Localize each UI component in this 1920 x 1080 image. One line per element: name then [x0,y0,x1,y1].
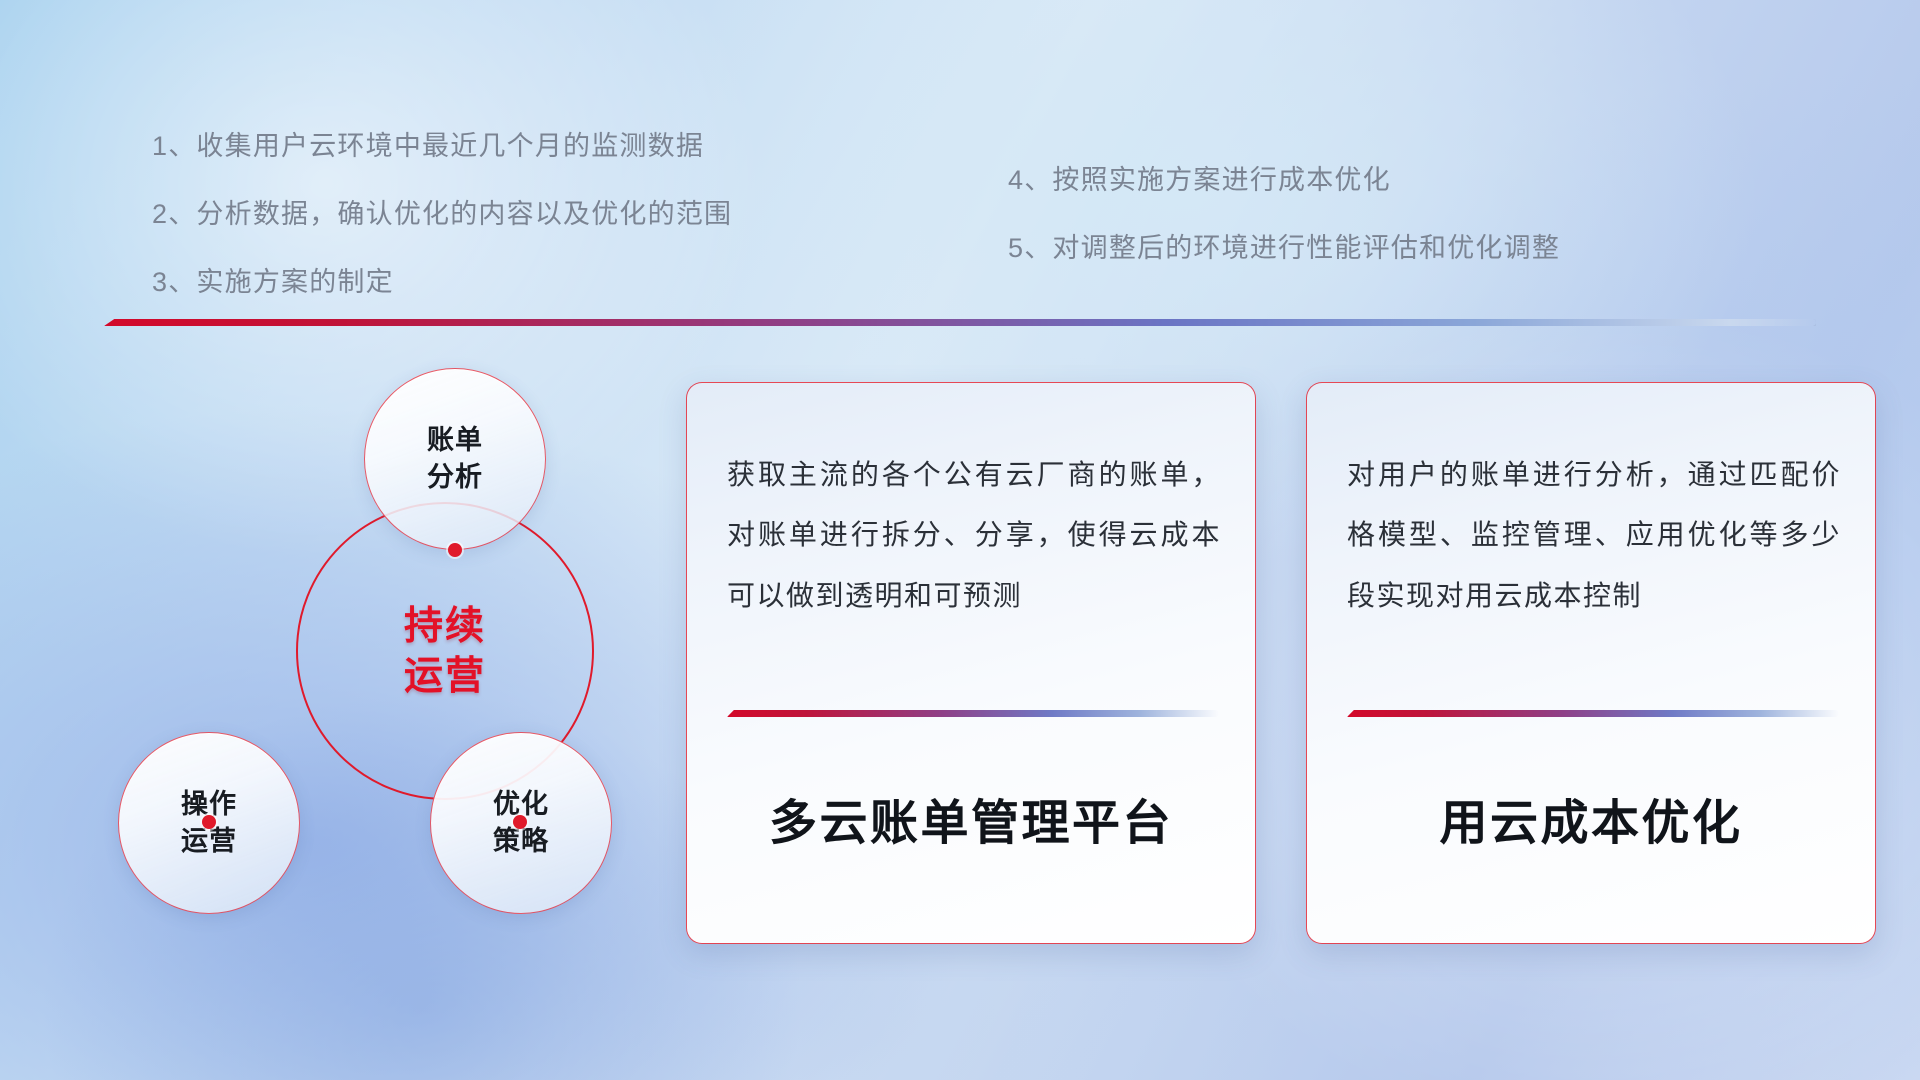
step-item-2: 2、分析数据，确认优化的内容以及优化的范围 [152,192,732,231]
diagram-center-label: 持续 运营 [296,602,594,702]
card-1-rule [727,710,1219,717]
card-cloud-cost-optimization[interactable]: 对用户的账单进行分析，通过匹配价格模型、监控管理、应用优化等多少段实现对用云成本… [1306,382,1876,944]
step-item-3: 3、实施方案的制定 [152,260,394,299]
step-item-1: 1、收集用户云环境中最近几个月的监测数据 [152,124,704,163]
center-label-line-1: 持续 [296,602,594,652]
card-1-title: 多云账单管理平台 [687,783,1255,853]
connector-dot-top [448,543,462,557]
steps-list: 1、收集用户云环境中最近几个月的监测数据 2、分析数据，确认优化的内容以及优化的… [0,0,1920,320]
continuous-operation-diagram: 持续 运营 账单 分析 操作 运营 优化 策略 [100,340,660,960]
connector-dot-bottom-right [513,815,527,829]
bubble-bill-analysis-line-2: 分析 [427,459,483,496]
card-multicloud-billing-platform[interactable]: 获取主流的各个公有云厂商的账单，对账单进行拆分、分享，使得云成本可以做到透明和可… [686,382,1256,944]
section-divider [104,319,1816,326]
bubble-bill-analysis-line-1: 账单 [427,422,483,459]
card-2-body: 对用户的账单进行分析，通过匹配价格模型、监控管理、应用优化等多少段实现对用云成本… [1347,445,1841,626]
feature-cards: 获取主流的各个公有云厂商的账单，对账单进行拆分、分享，使得云成本可以做到透明和可… [686,382,1896,952]
bubble-bill-analysis[interactable]: 账单 分析 [364,368,546,550]
center-label-line-2: 运营 [296,652,594,702]
card-1-body: 获取主流的各个公有云厂商的账单，对账单进行拆分、分享，使得云成本可以做到透明和可… [727,445,1221,626]
connector-dot-bottom-left [202,815,216,829]
card-2-rule [1347,710,1839,717]
step-item-4: 4、按照实施方案进行成本优化 [1008,158,1391,197]
card-2-title: 用云成本优化 [1307,783,1875,853]
step-item-5: 5、对调整后的环境进行性能评估和优化调整 [1008,226,1560,265]
